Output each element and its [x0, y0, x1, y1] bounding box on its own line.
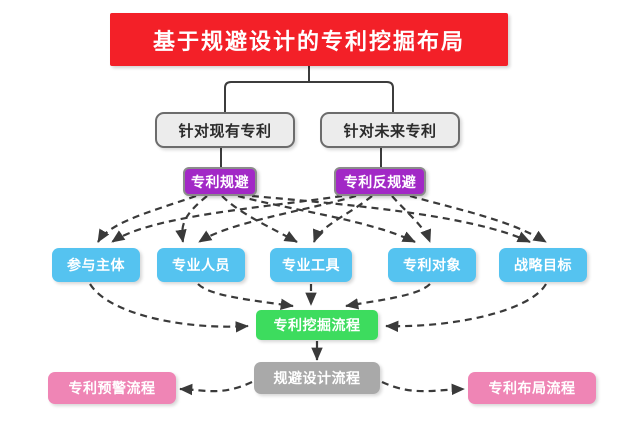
node-professional-staff[interactable]: 专业人员: [157, 248, 245, 282]
node-existing-patents[interactable]: 针对现有专利: [155, 112, 295, 148]
node-patent-warning-process[interactable]: 专利预警流程: [48, 372, 176, 404]
node-future-patents[interactable]: 针对未来专利: [320, 112, 460, 148]
node-participating-subjects[interactable]: 参与主体: [52, 248, 140, 282]
node-patent-layout-process[interactable]: 专利布局流程: [468, 372, 596, 404]
node-patent-mining-process[interactable]: 专利挖掘流程: [256, 310, 378, 340]
edge-group-avoidance-to-attributes: [98, 196, 530, 242]
diagram-title: 基于规避设计的专利挖掘布局: [110, 13, 508, 66]
diagram-canvas: 基于规避设计的专利挖掘布局 针对现有专利 针对未来专利 专利规避 专利反规避 参…: [0, 0, 644, 429]
edge-group-title-to-level2: [225, 66, 393, 112]
node-avoidance-design-process[interactable]: 规避设计流程: [254, 362, 380, 394]
node-strategic-goals[interactable]: 战略目标: [499, 248, 587, 282]
node-patent-objects[interactable]: 专利对象: [388, 248, 476, 282]
node-professional-tools[interactable]: 专业工具: [270, 248, 352, 282]
node-patent-avoidance[interactable]: 专利规避: [183, 167, 257, 196]
node-patent-anti-avoidance[interactable]: 专利反规避: [334, 167, 426, 196]
edge-group-anti-avoidance-to-attributes: [112, 196, 546, 242]
edge-group-level2-to-level3: [221, 148, 381, 167]
